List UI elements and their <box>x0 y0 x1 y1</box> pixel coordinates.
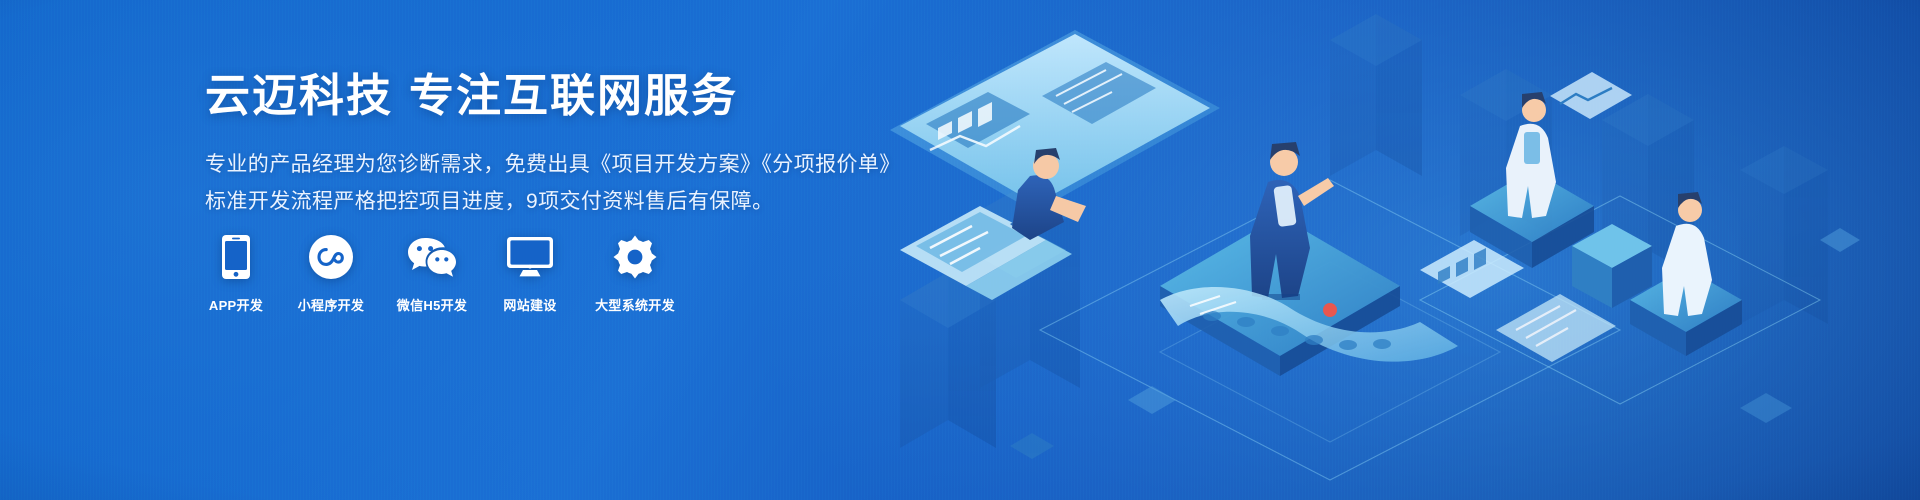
mobile-phone-icon <box>222 232 250 282</box>
service-label: 网站建设 <box>503 295 556 314</box>
mini-program-icon <box>309 232 353 282</box>
banner-copy: 云迈科技专注互联网服务 专业的产品经理为您诊断需求，免费出具《项目开发方案》《分… <box>205 72 965 220</box>
service-item-wechat-h5[interactable]: 微信H5开发 <box>393 232 471 314</box>
service-item-website[interactable]: 网站建设 <box>495 232 565 314</box>
service-label: 大型系统开发 <box>595 295 675 314</box>
service-item-miniprogram[interactable]: 小程序开发 <box>293 232 369 314</box>
page-title: 云迈科技专注互联网服务 <box>205 72 965 120</box>
monitor-icon <box>507 232 553 282</box>
gear-icon <box>613 232 657 282</box>
wechat-icon <box>406 232 458 282</box>
title-tagline: 专注互联网服务 <box>409 70 738 121</box>
service-list: APP开发 小程序开发 微信 <box>203 232 681 314</box>
banner-subtitle: 专业的产品经理为您诊断需求，免费出具《项目开发方案》《分项报价单》 标准开发流程… <box>205 146 965 221</box>
service-item-app[interactable]: APP开发 <box>203 232 269 314</box>
service-item-large-system[interactable]: 大型系统开发 <box>589 232 681 314</box>
service-label: APP开发 <box>209 295 263 314</box>
service-label: 小程序开发 <box>298 295 365 314</box>
isometric-team-dashboard-illustration <box>860 0 1920 500</box>
title-brand: 云迈科技 <box>205 70 393 121</box>
subtitle-line-2: 标准开发流程严格把控项目进度，9项交付资料售后有保障。 <box>205 183 965 220</box>
promo-banner: 云迈科技专注互联网服务 专业的产品经理为您诊断需求，免费出具《项目开发方案》《分… <box>0 0 1920 500</box>
subtitle-line-1: 专业的产品经理为您诊断需求，免费出具《项目开发方案》《分项报价单》 <box>205 146 965 183</box>
service-label: 微信H5开发 <box>397 295 467 314</box>
